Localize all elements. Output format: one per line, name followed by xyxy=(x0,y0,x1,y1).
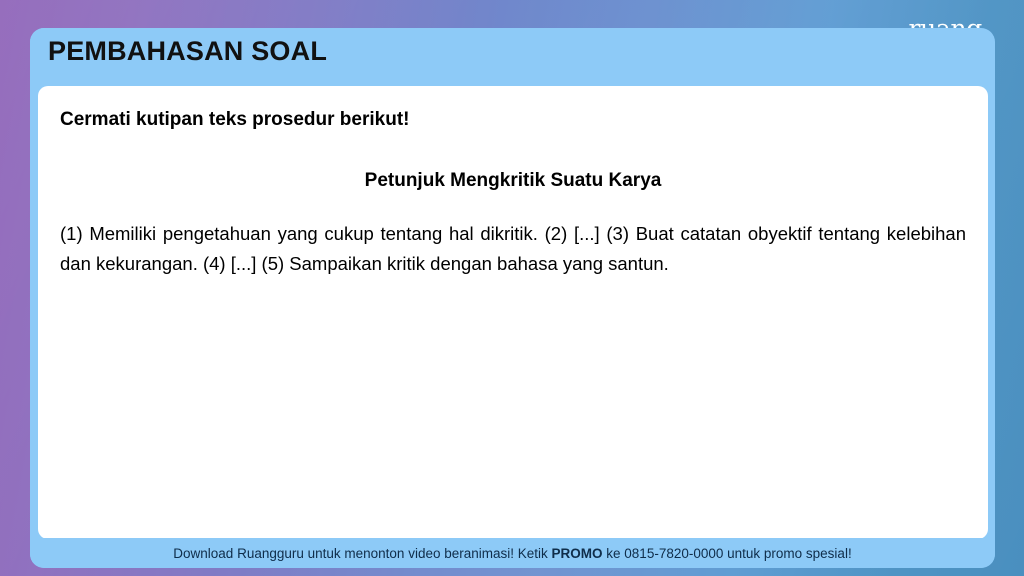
promo-footer-bar: Download Ruangguru untuk menonton video … xyxy=(30,538,995,568)
passage-title: Petunjuk Mengkritik Suatu Karya xyxy=(60,169,966,194)
slide-root: ruang guru PEMBAHASAN SOAL Cermati kutip… xyxy=(0,0,1024,576)
promo-text-before: Download Ruangguru untuk menonton video … xyxy=(173,546,551,561)
promo-keyword: PROMO xyxy=(552,546,603,561)
passage-body: (1) Memiliki pengetahuan yang cukup tent… xyxy=(60,219,966,279)
promo-footer-text: Download Ruangguru untuk menonton video … xyxy=(173,546,851,561)
promo-text-after: ke 0815-7820-0000 untuk promo spesial! xyxy=(603,546,852,561)
instruction-text: Cermati kutipan teks prosedur berikut! xyxy=(60,108,966,133)
page-title: PEMBAHASAN SOAL xyxy=(48,36,327,67)
question-card: Cermati kutipan teks prosedur berikut! P… xyxy=(38,86,988,539)
